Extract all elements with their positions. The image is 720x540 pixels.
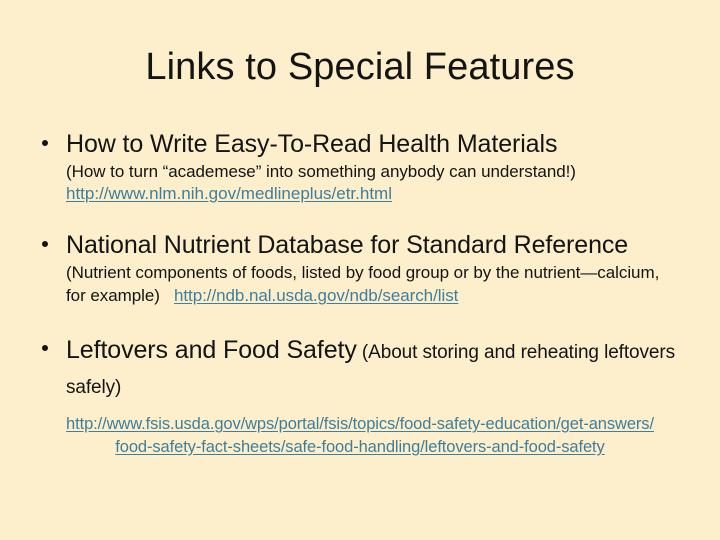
bullet-3-heading-row: Leftovers and Food Safety (About storing… bbox=[66, 334, 690, 404]
bullet-1-link[interactable]: http://www.nlm.nih.gov/medlineplus/etr.h… bbox=[66, 184, 392, 203]
bullet-2-heading: National Nutrient Database for Standard … bbox=[66, 230, 690, 260]
bullet-dot-icon bbox=[42, 140, 48, 146]
footer-link-line-2[interactable]: food-safety-fact-sheets/safe-food-handli… bbox=[115, 438, 604, 456]
bullet-1-heading: How to Write Easy-To-Read Health Materia… bbox=[66, 129, 690, 159]
presentation-slide: Links to Special Features How to Write E… bbox=[0, 0, 720, 540]
bullet-dot-icon bbox=[42, 345, 48, 351]
footer-link-line-1[interactable]: http://www.fsis.usda.gov/wps/portal/fsis… bbox=[66, 415, 654, 433]
bullet-item-2: National Nutrient Database for Standard … bbox=[30, 230, 690, 306]
bullet-1-link-row: http://www.nlm.nih.gov/medlineplus/etr.h… bbox=[66, 183, 690, 204]
bullet-dot-icon bbox=[42, 241, 48, 247]
bullet-2-link[interactable]: http://ndb.nal.usda.gov/ndb/search/list bbox=[174, 286, 458, 305]
footer-link-block: http://www.fsis.usda.gov/wps/portal/fsis… bbox=[30, 413, 690, 459]
bullet-1-description: (How to turn “academese” into something … bbox=[66, 161, 690, 182]
bullet-2-description-line-2: for example) http://ndb.nal.usda.gov/ndb… bbox=[66, 285, 690, 306]
bullet-item-3: Leftovers and Food Safety (About storing… bbox=[30, 334, 690, 404]
bullet-3-heading: Leftovers and Food Safety bbox=[66, 336, 357, 364]
slide-title: Links to Special Features bbox=[0, 44, 720, 90]
bullet-item-1: How to Write Easy-To-Read Health Materia… bbox=[30, 129, 690, 204]
bullet-2-description-text: for example) bbox=[66, 286, 160, 305]
slide-body: How to Write Easy-To-Read Health Materia… bbox=[30, 129, 690, 404]
bullet-2-description-line-1: (Nutrient components of foods, listed by… bbox=[66, 262, 690, 283]
